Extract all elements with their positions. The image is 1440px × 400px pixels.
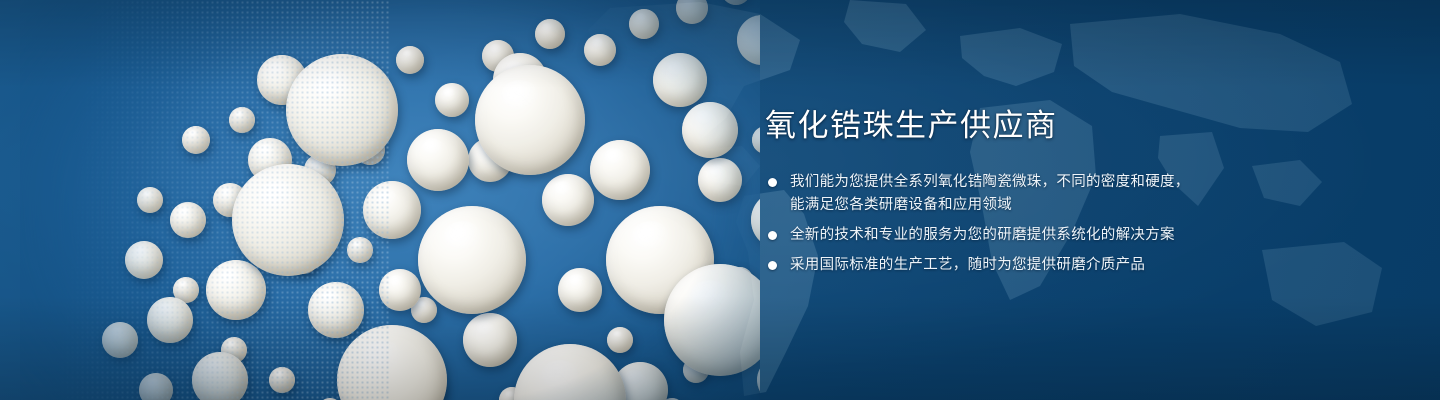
feature-list: 我们能为您提供全系列氧化锆陶瓷微珠，不同的密度和硬度， 能满足您各类研磨设备和应…: [765, 171, 1405, 277]
dot-icon: [768, 261, 777, 270]
list-item: 采用国际标准的生产工艺，随时为您提供研磨介质产品: [765, 254, 1405, 277]
hero-banner: 氧化锆珠生产供应商 我们能为您提供全系列氧化锆陶瓷微珠，不同的密度和硬度， 能满…: [0, 0, 1440, 400]
list-item-line: 我们能为您提供全系列氧化锆陶瓷微珠，不同的密度和硬度，: [790, 171, 1405, 194]
banner-copy: 氧化锆珠生产供应商 我们能为您提供全系列氧化锆陶瓷微珠，不同的密度和硬度， 能满…: [765, 106, 1405, 277]
list-item: 我们能为您提供全系列氧化锆陶瓷微珠，不同的密度和硬度， 能满足您各类研磨设备和应…: [765, 171, 1405, 217]
list-item-line: 采用国际标准的生产工艺，随时为您提供研磨介质产品: [790, 254, 1405, 277]
list-item: 全新的技术和专业的服务为您的研磨提供系统化的解决方案: [765, 224, 1405, 247]
list-item-line: 能满足您各类研磨设备和应用领域: [790, 194, 1405, 217]
dot-icon: [768, 178, 777, 187]
page-title: 氧化锆珠生产供应商: [765, 106, 1405, 146]
list-item-line: 全新的技术和专业的服务为您的研磨提供系统化的解决方案: [790, 224, 1405, 247]
dot-icon: [768, 231, 777, 240]
